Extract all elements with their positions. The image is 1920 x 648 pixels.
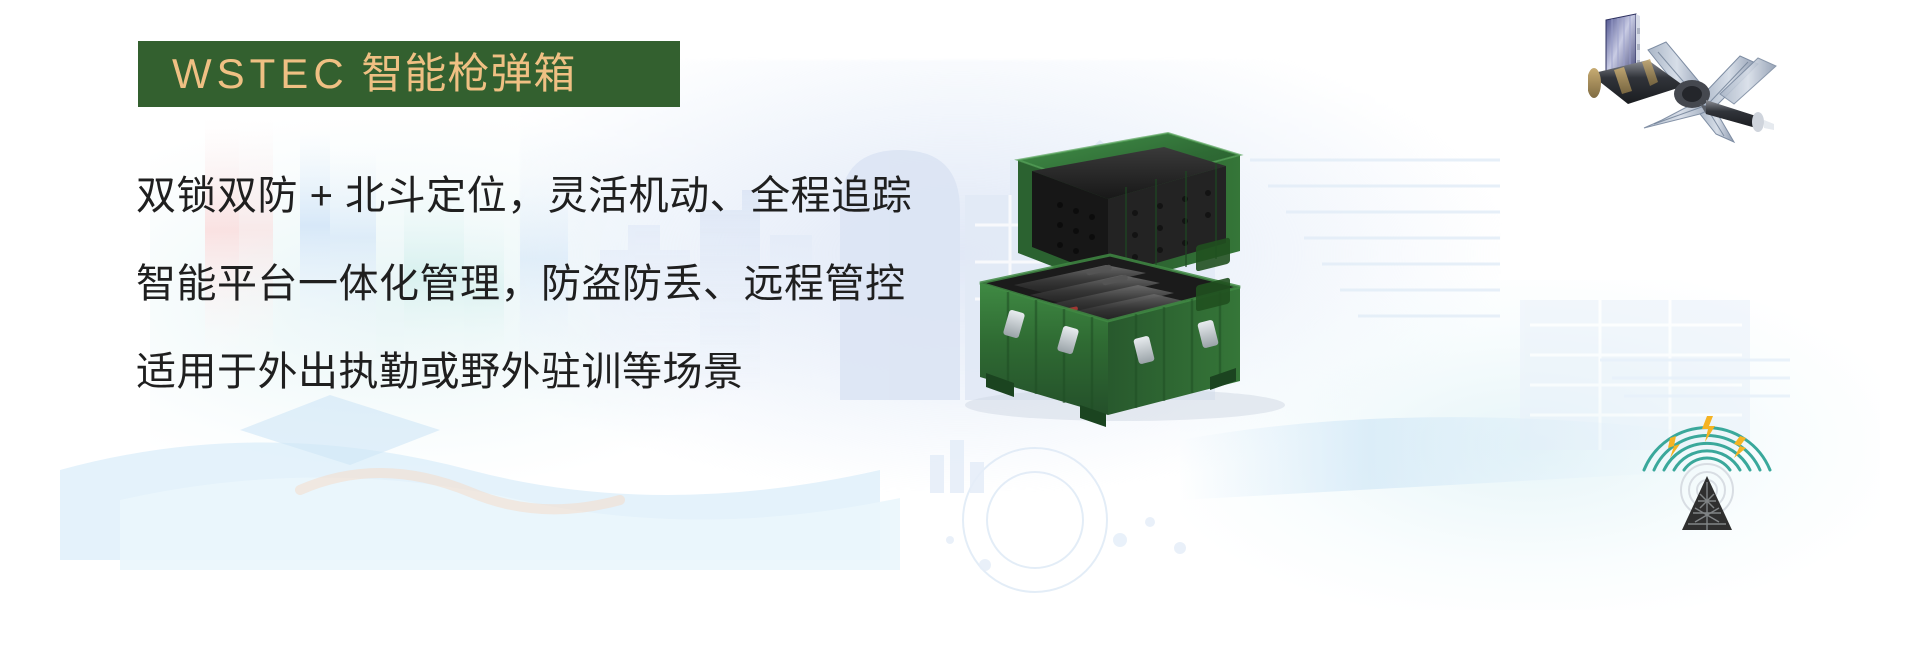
feature-line-2: 智能平台一体化管理，防盗防丢、远程管控 bbox=[136, 264, 1016, 304]
brand-name: WSTEC bbox=[172, 50, 349, 97]
product-name: 智能枪弹箱 bbox=[361, 50, 576, 97]
title-banner: WSTEC 智能枪弹箱 bbox=[138, 41, 680, 107]
feature-line-1: 双锁双防 + 北斗定位，灵活机动、全程追踪 bbox=[136, 176, 1016, 216]
satellite-icon bbox=[1588, 2, 1812, 152]
product-ammunition-case bbox=[910, 105, 1330, 445]
banner-canvas: WSTEC 智能枪弹箱 双锁双防 + 北斗定位，灵活机动、全程追踪 智能平台一体… bbox=[0, 0, 1920, 648]
feature-line-3: 适用于外出执勤或野外驻训等场景 bbox=[136, 352, 1016, 392]
case-handle-recess bbox=[1196, 237, 1230, 311]
signal-tower-icon bbox=[1612, 358, 1802, 530]
banner-title: WSTEC 智能枪弹箱 bbox=[172, 53, 576, 95]
feature-list: 双锁双防 + 北斗定位，灵活机动、全程追踪 智能平台一体化管理，防盗防丢、远程管… bbox=[136, 176, 1016, 392]
